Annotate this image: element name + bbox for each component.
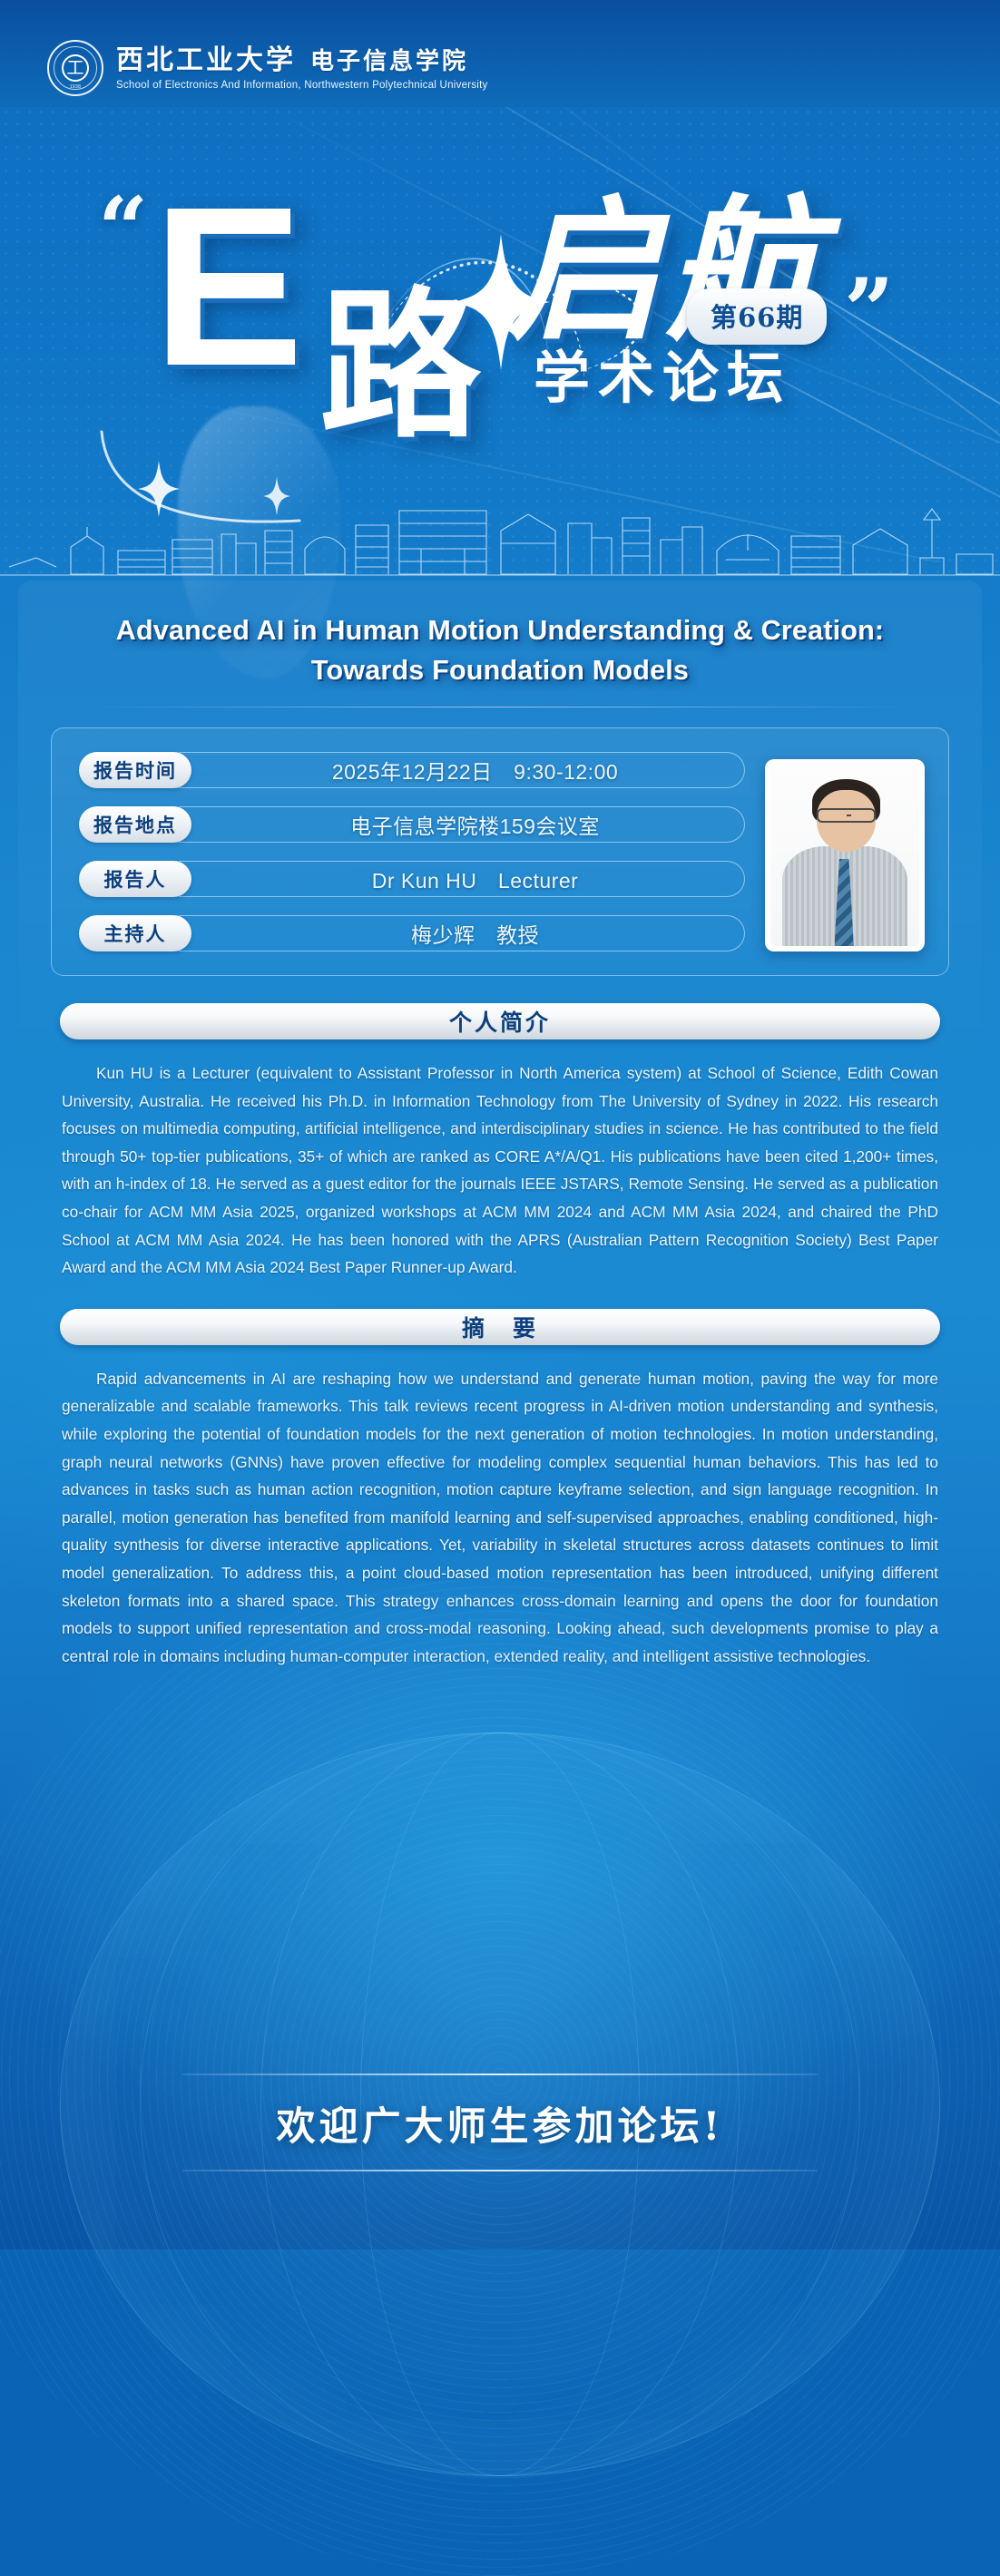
footer-divider-bottom xyxy=(182,2170,818,2171)
open-quote-mark: “ xyxy=(98,178,148,280)
university-header-bar: 工 1938 西北工业大学电子信息学院 School of Electronic… xyxy=(0,0,1000,107)
school-name-cn: 电子信息学院 xyxy=(310,48,468,75)
info-value-time: 2025年12月22日 9:30-12:00 xyxy=(179,752,745,788)
photo-glasses-icon xyxy=(817,808,877,823)
talk-title-line-2: Towards Foundation Models xyxy=(60,650,940,690)
university-seal-icon: 工 1938 xyxy=(47,40,103,96)
swoosh-decoration xyxy=(98,426,307,535)
info-value-host: 梅少辉 教授 xyxy=(179,915,745,951)
seal-center-glyph: 工 xyxy=(62,54,89,82)
talk-title-line-1: Advanced AI in Human Motion Understandin… xyxy=(60,610,940,650)
info-row-location: 报告地点 电子信息学院楼159会议室 xyxy=(79,806,745,843)
info-label-host: 主持人 xyxy=(79,915,191,951)
info-row-speaker: 报告人 Dr Kun HU Lecturer xyxy=(79,861,745,897)
info-row-host: 主持人 梅少辉 教授 xyxy=(79,915,745,951)
content-card: Advanced AI in Human Motion Understandin… xyxy=(18,581,982,2204)
poster-root: 工 1938 西北工业大学电子信息学院 School of Electronic… xyxy=(0,0,1000,2249)
issue-number-badge: 第66期 xyxy=(687,288,827,345)
speaker-photo-frame xyxy=(765,759,925,951)
info-value-location: 电子信息学院楼159会议室 xyxy=(179,806,745,843)
title-divider xyxy=(83,707,917,707)
close-quote-mark: ” xyxy=(844,259,894,362)
hero-forum-label: 学术论坛 xyxy=(534,350,791,406)
info-value-speaker: Dr Kun HU Lecturer xyxy=(179,861,745,897)
section-header-abstract-label: 摘 要 xyxy=(462,1311,538,1343)
info-label-location: 报告地点 xyxy=(79,806,191,843)
info-row-time: 报告时间 2025年12月22日 9:30-12:00 xyxy=(79,752,745,788)
speaker-photo xyxy=(770,765,919,946)
section-header-biography: 个人简介 xyxy=(60,1003,940,1039)
event-info-rows: 报告时间 2025年12月22日 9:30-12:00 报告地点 电子信息学院楼… xyxy=(79,752,745,951)
footer-welcome-block: 欢迎广大师生参加论坛! xyxy=(0,2073,1000,2171)
school-name-en: School of Electronics And Information, N… xyxy=(116,80,488,91)
section-header-abstract: 摘 要 xyxy=(60,1309,940,1345)
hero-letter-e: E xyxy=(152,187,299,386)
university-name-cn: 西北工业大学 xyxy=(116,44,296,76)
sparkle-star-small-icon xyxy=(138,461,180,517)
logo-chinese-names: 西北工业大学电子信息学院 xyxy=(116,45,488,75)
hero-word-lu: 路 xyxy=(319,285,481,446)
info-label-speaker: 报告人 xyxy=(79,861,191,897)
seal-year-text: 1938 xyxy=(49,84,102,90)
footer-welcome-text: 欢迎广大师生参加论坛! xyxy=(0,2075,1000,2170)
talk-title: Advanced AI in Human Motion Understandin… xyxy=(60,610,940,690)
hero-title-banner: “ ” E 路 启航 学术论坛 第66期 xyxy=(0,107,1000,570)
biography-text: Kun HU is a Lecturer (equivalent to Assi… xyxy=(62,1059,938,1282)
event-info-panel: 报告时间 2025年12月22日 9:30-12:00 报告地点 电子信息学院楼… xyxy=(51,727,949,976)
section-header-biography-label: 个人简介 xyxy=(449,1005,551,1038)
university-logo-lockup: 工 1938 西北工业大学电子信息学院 School of Electronic… xyxy=(47,40,488,96)
abstract-text: Rapid advancements in AI are reshaping h… xyxy=(62,1365,938,1671)
info-label-time: 报告时间 xyxy=(79,752,191,788)
logo-text-block: 西北工业大学电子信息学院 School of Electronics And I… xyxy=(116,45,488,91)
sparkle-star-tiny-icon xyxy=(263,477,290,515)
